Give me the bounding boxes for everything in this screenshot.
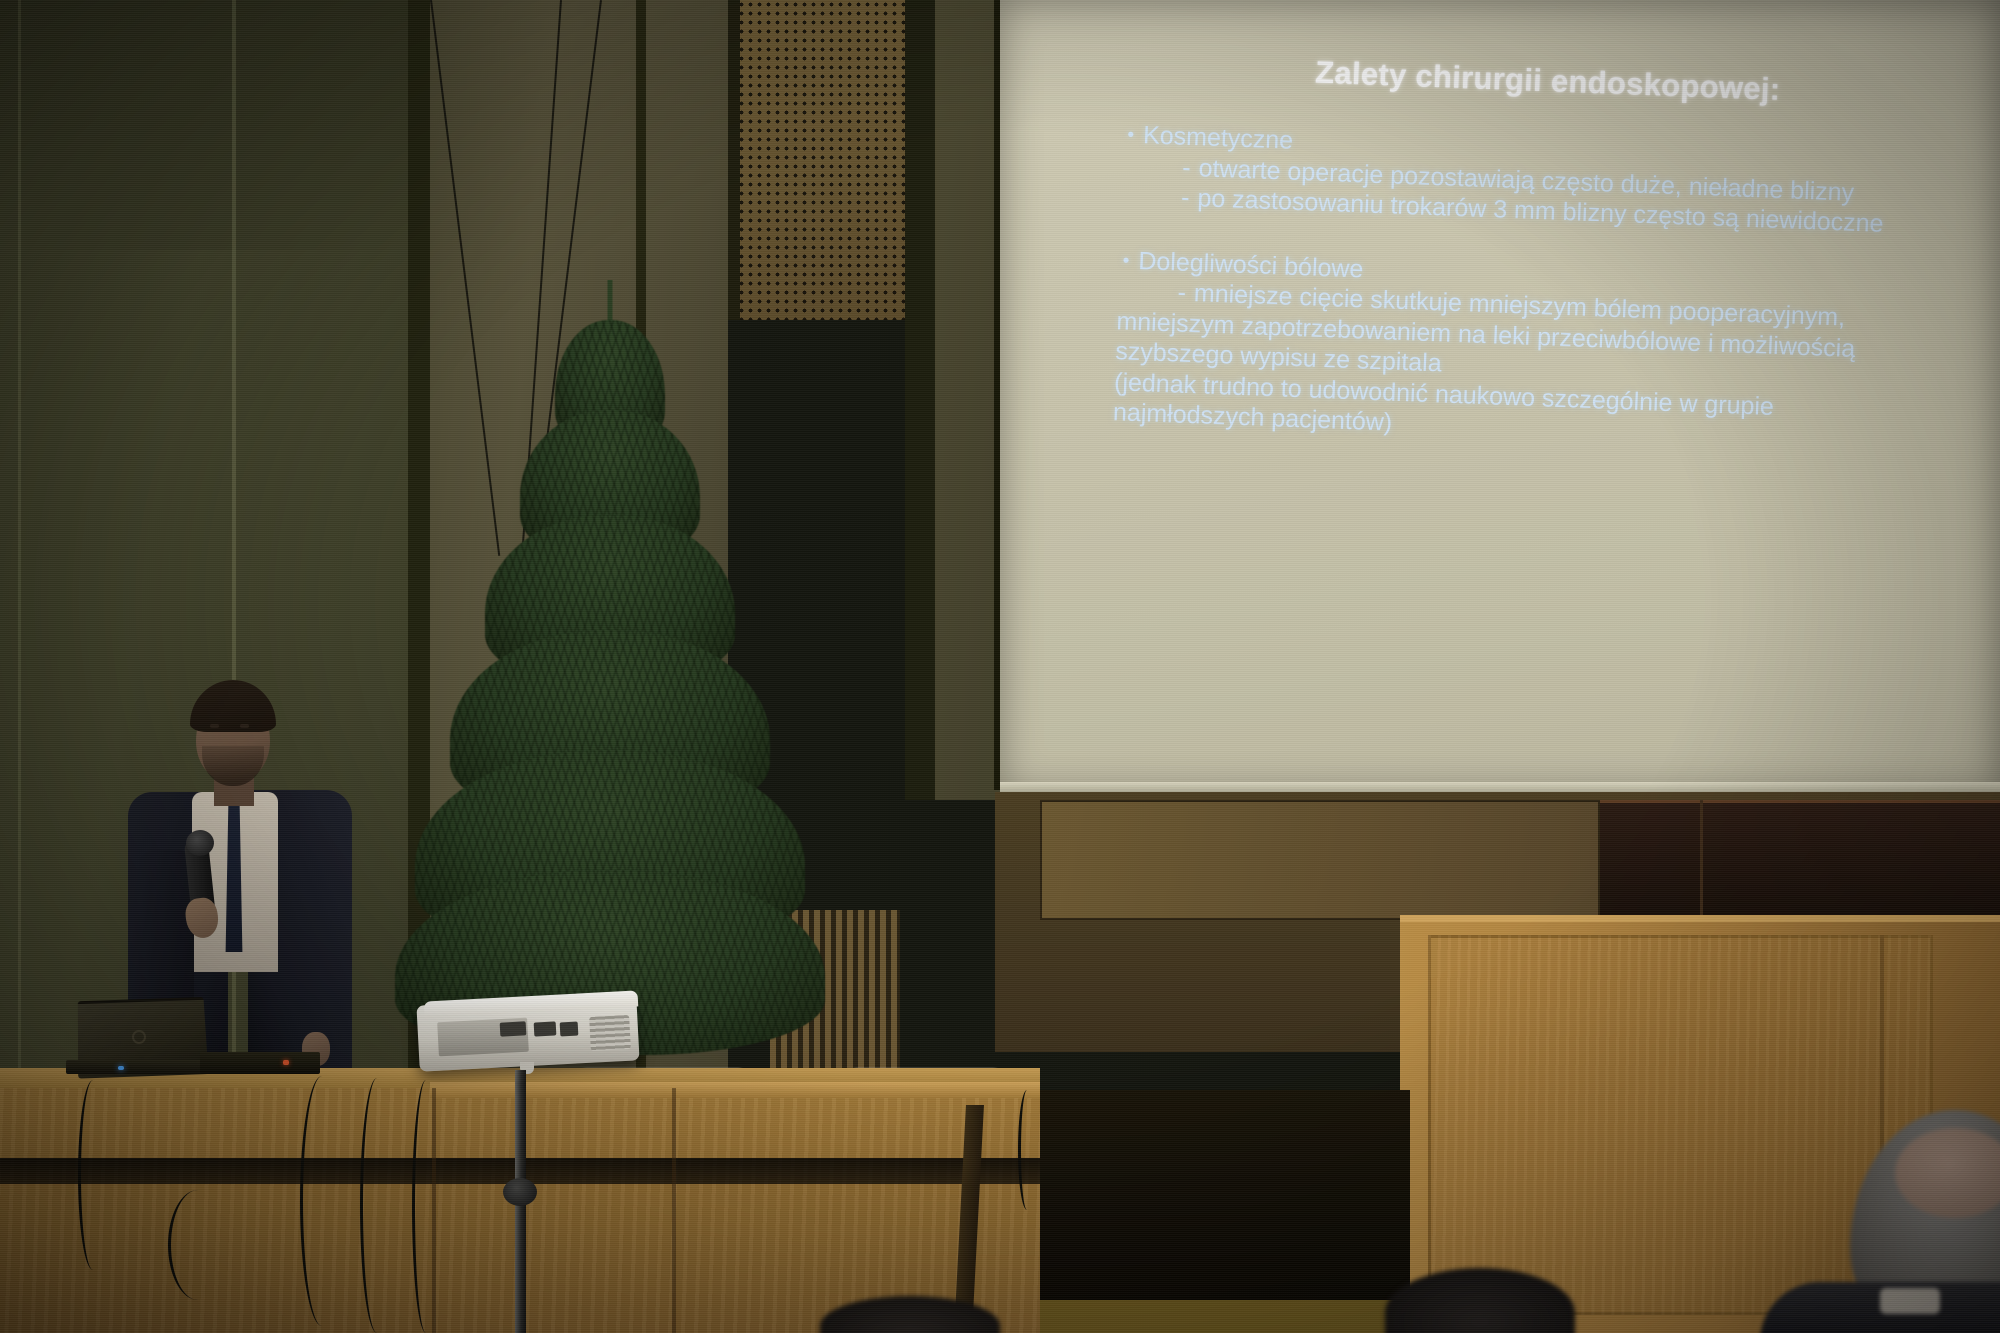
beard [202, 746, 264, 786]
projector-port[interactable] [560, 1022, 579, 1037]
acoustic-panel [728, 0, 908, 320]
left-wall-upper-band [0, 0, 420, 250]
dark-doorway [1600, 800, 2000, 920]
cable [412, 1080, 440, 1333]
table-seam [672, 1088, 676, 1333]
stage-shadow-area [1040, 1090, 1410, 1333]
projector-port[interactable] [500, 1021, 527, 1036]
laptop-logo-icon [132, 1030, 146, 1044]
floor-strip [1040, 1300, 1440, 1333]
laptop-base[interactable] [66, 1060, 218, 1074]
acoustic-panel-edge [728, 0, 740, 320]
audience-member-collar [1880, 1288, 1940, 1314]
hair [190, 680, 276, 732]
status-led-indicator [283, 1060, 289, 1065]
desk-equipment-box[interactable] [200, 1052, 320, 1074]
wall-seam [18, 0, 21, 1100]
christmas-tree [395, 280, 825, 1070]
slide-content: Zalety chirurgii endoskopowej: Kosmetycz… [1070, 14, 1989, 567]
photograph-scene: Zalety chirurgii endoskopowej: Kosmetycz… [0, 0, 2000, 1333]
cable-loop [168, 1190, 228, 1300]
cable [300, 1076, 344, 1326]
doorway-divider [1700, 800, 1703, 920]
projector-port[interactable] [534, 1021, 557, 1036]
tripod-adjust-knob[interactable] [503, 1178, 537, 1206]
power-led-indicator [118, 1066, 124, 1070]
slide-body: Kosmetyczne otwarte operacje pozostawiaj… [1075, 118, 1986, 460]
cable [360, 1078, 394, 1333]
wall-dark-column [905, 0, 935, 800]
wood-wall-panel [1040, 800, 1600, 920]
cable [78, 1080, 108, 1270]
projector-vent [589, 1015, 631, 1051]
eye [210, 724, 219, 728]
eye [240, 724, 249, 728]
cable [1018, 1090, 1036, 1210]
slide-title: Zalety chirurgii endoskopowej: [1107, 47, 1988, 116]
